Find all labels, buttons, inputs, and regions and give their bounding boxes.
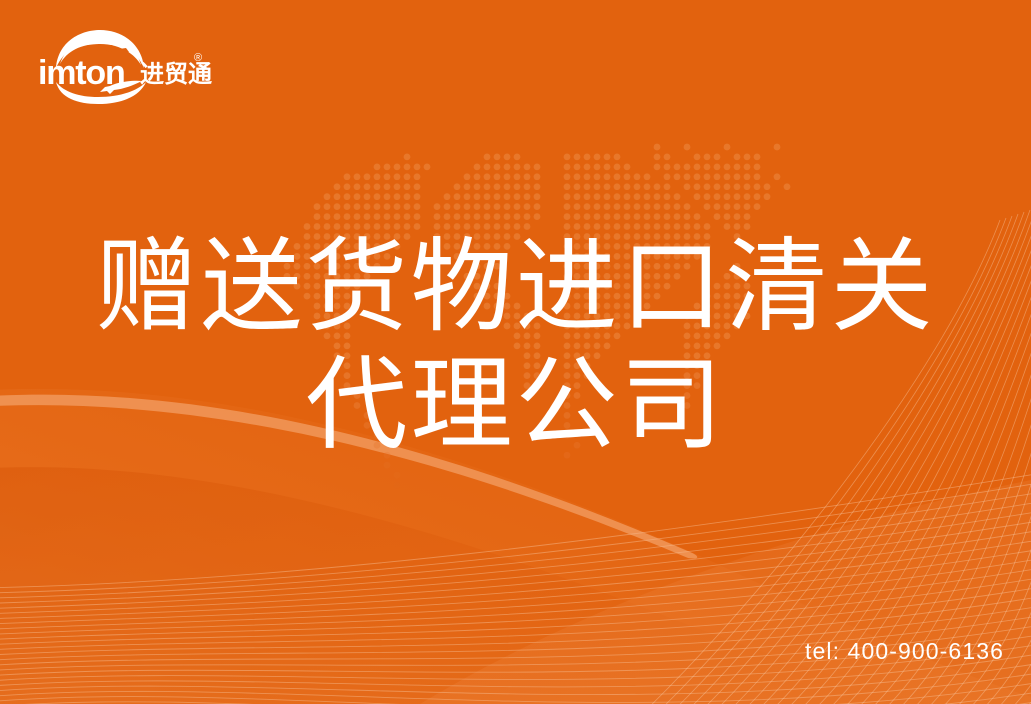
poster-canvas: imton 进贸通 ® 赠送货物进口清关 代理公司 tel: 400-900-6… — [0, 0, 1031, 704]
bottom-right-glow — [420, 480, 1031, 704]
contact-telephone: tel: 400-900-6136 — [805, 638, 1004, 665]
headline-line-1: 赠送货物进口清关 — [0, 228, 1031, 346]
page-title: 赠送货物进口清关 代理公司 — [0, 228, 1031, 464]
swoosh-wave-lower — [0, 467, 1031, 704]
logo-chinese-name: 进贸通 — [140, 61, 212, 88]
brand-logo[interactable]: imton 进贸通 ® — [36, 28, 212, 104]
headline-line-2: 代理公司 — [0, 346, 1031, 464]
brand-logo-svg: imton 进贸通 ® — [36, 28, 212, 104]
logo-trademark-symbol: ® — [194, 52, 202, 64]
